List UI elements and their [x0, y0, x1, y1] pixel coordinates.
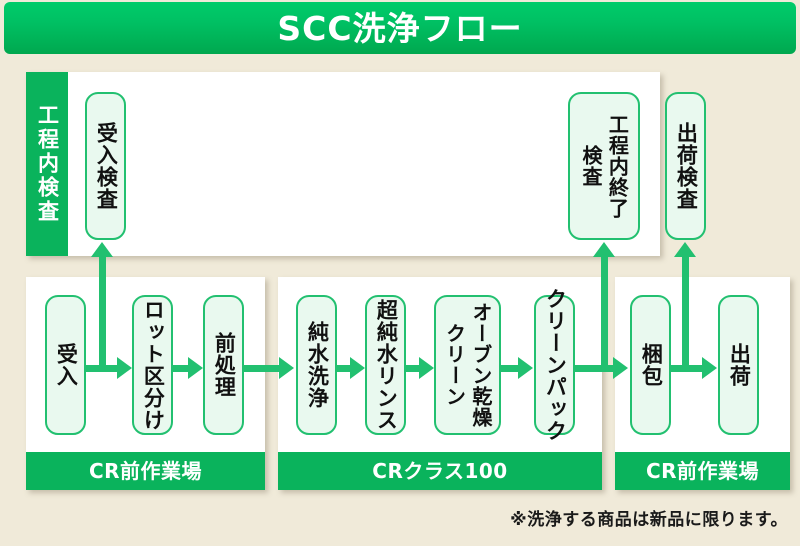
process-box-clean-oven-dry[interactable]: オーブン乾燥 クリーン [434, 295, 501, 435]
process-box-receiving[interactable]: 受入 [45, 295, 86, 435]
arrowhead-purewash-to-ultrarinse [350, 357, 365, 379]
arrowhead-branch-to-final-inspection [593, 242, 615, 257]
process-box-final-inspection[interactable]: 工程内終了 検査 [568, 92, 640, 240]
panel-footer-label: CR前作業場 [646, 461, 759, 481]
arrowhead-packing-to-shipping [702, 357, 717, 379]
process-box-label-col1: 工程内終了 [604, 114, 630, 219]
process-box-label-col1: オーブン乾燥 [468, 302, 494, 428]
connector-lot-to-pretreatment [173, 365, 189, 372]
process-box-receiving-inspection[interactable]: 受入検査 [85, 92, 126, 240]
process-box-label-col2: 検査 [578, 145, 604, 187]
panel-footer-group-3: CR前作業場 [615, 452, 790, 490]
process-box-label: ロット区分け [139, 299, 167, 431]
process-box-pretreatment[interactable]: 前処理 [203, 295, 244, 435]
connector-branch-to-final-inspection [601, 255, 608, 368]
process-box-shipping-inspection[interactable]: 出荷検査 [665, 92, 706, 240]
title-bar: SCC洗浄フロー [4, 2, 796, 54]
process-box-label-col2: クリーン [441, 323, 467, 407]
connector-purewash-to-ultrarinse [337, 365, 351, 372]
arrowhead-branch-to-receiving-inspection [91, 242, 113, 257]
process-box-label: 受入 [52, 343, 80, 387]
process-box-ultrapure-rinse[interactable]: 超純水リンス [365, 295, 406, 435]
connector-ultrarinse-to-ovendry [406, 365, 420, 372]
arrowhead-cleanpack-to-packing [613, 357, 628, 379]
panel-footer-label: CRクラス100 [372, 461, 507, 481]
panel-footer-group-1: CR前作業場 [26, 452, 265, 490]
arrowhead-lot-to-pretreatment [188, 357, 203, 379]
inspection-band: 工程内検査 [26, 72, 68, 256]
connector-pretreatment-to-purewash [244, 365, 280, 372]
process-box-label: 前処理 [210, 332, 238, 398]
panel-footer-label: CR前作業場 [89, 461, 202, 481]
inspection-band-label: 工程内検査 [37, 104, 58, 224]
arrowhead-ovendry-to-cleanpack [518, 357, 533, 379]
process-box-label: 受入検査 [92, 122, 120, 210]
process-box-clean-pack[interactable]: クリーンパック [534, 295, 575, 435]
process-box-label: 純水洗浄 [303, 321, 331, 409]
process-box-lot-sorting[interactable]: ロット区分け [132, 295, 173, 435]
arrowhead-ultrarinse-to-ovendry [419, 357, 434, 379]
process-box-shipping[interactable]: 出荷 [718, 295, 759, 435]
footnote: ※洗浄する商品は新品に限ります。 [510, 512, 788, 529]
process-box-label: 梱包 [637, 343, 665, 387]
arrowhead-branch-to-shipping-inspection [674, 242, 696, 257]
arrowhead-receiving-to-lot [117, 357, 132, 379]
flow-diagram-canvas: SCC洗浄フロー 工程内検査 受入検査 工程内終了 検査 出荷検査 CR前作業場… [0, 0, 800, 546]
connector-ovendry-to-cleanpack [501, 365, 519, 372]
panel-footer-group-2: CRクラス100 [278, 452, 602, 490]
process-box-label: 出荷検査 [672, 122, 700, 210]
process-box-label: 出荷 [725, 343, 753, 387]
connector-branch-to-shipping-inspection [682, 255, 689, 368]
arrowhead-pretreatment-to-purewash [279, 357, 294, 379]
process-box-packing[interactable]: 梱包 [630, 295, 671, 435]
connector-branch-to-receiving-inspection [99, 255, 106, 368]
process-box-label: 超純水リンス [372, 299, 400, 431]
process-box-pure-water-wash[interactable]: 純水洗浄 [296, 295, 337, 435]
process-box-label: クリーンパック [541, 288, 569, 442]
page-title: SCC洗浄フロー [277, 12, 522, 45]
connector-cleanpack-to-packing [575, 365, 614, 372]
